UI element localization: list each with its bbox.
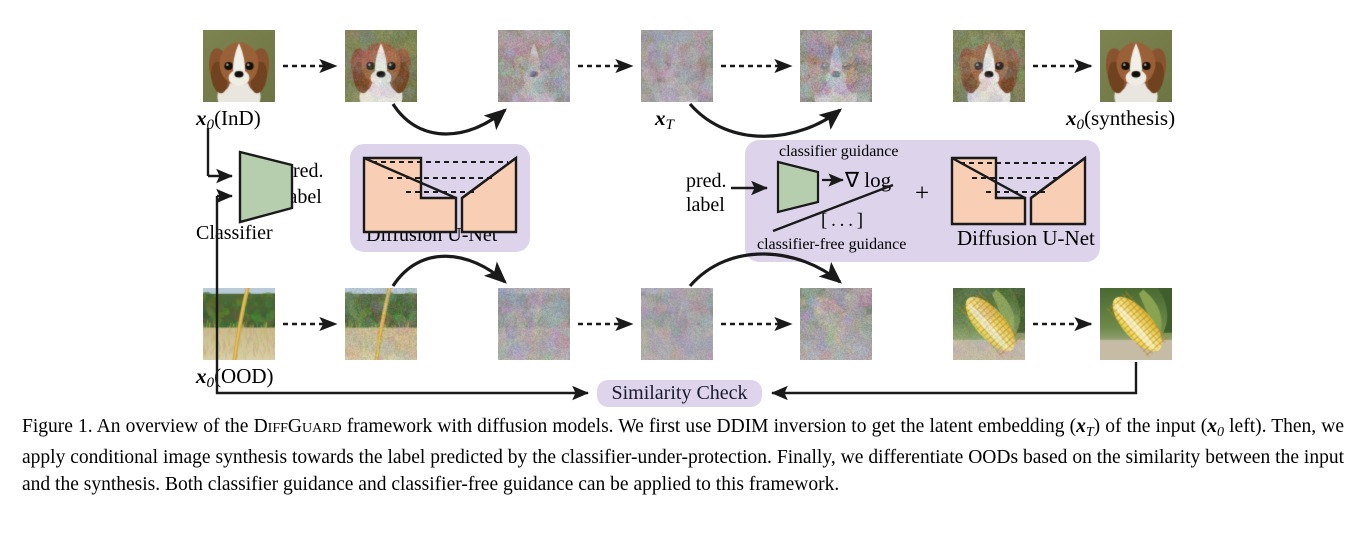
caption-t3: ) of the input ( <box>1094 416 1208 437</box>
caption-math-xT: x <box>1076 416 1086 437</box>
curve-bot-right <box>690 254 840 286</box>
similarity-synthesis-line <box>772 362 1136 393</box>
caption-math-x0: x <box>1207 416 1217 437</box>
caption-t1: An overview of the <box>93 416 254 437</box>
curve-bot-left <box>393 256 505 286</box>
similarity-input-line <box>217 380 588 393</box>
figure-panel: Similarity Check x0(InD) xT x0(synthesis… <box>0 0 1364 558</box>
caption-math-xT-sub: T <box>1086 424 1094 440</box>
caption-t2: framework with diffusion models. We firs… <box>342 416 1076 437</box>
caption-prefix: Figure 1. <box>22 416 93 437</box>
classifier-trapezoid <box>240 152 292 222</box>
caption-math-x0-sub: 0 <box>1217 424 1224 440</box>
figure-caption: Figure 1. An overview of the DiffGuard f… <box>22 414 1344 498</box>
curve-top-left <box>393 104 505 134</box>
caption-smallcaps-diffguard: DiffGuard <box>254 416 342 437</box>
unet-left-decoder <box>462 158 516 232</box>
curve-top-right <box>690 104 840 136</box>
guidance-classifier-trapezoid <box>778 162 818 212</box>
unet-left-encoder <box>364 158 456 232</box>
